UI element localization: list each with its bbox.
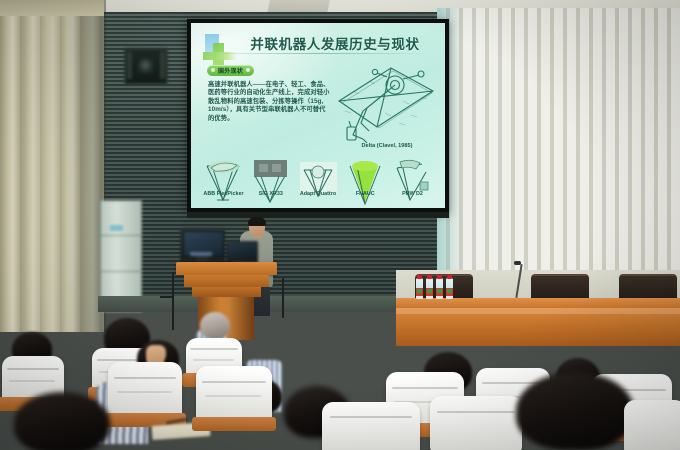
robot-label: SIG XR33 — [248, 191, 293, 200]
slide-section-badge-label: 国外现状 — [218, 66, 243, 75]
robot-image-row — [201, 156, 435, 208]
presenter-laptop — [226, 241, 258, 263]
delta-robot-diagram — [333, 61, 441, 147]
table-microphone-head — [514, 261, 521, 265]
cable — [160, 296, 174, 298]
right-wall — [437, 8, 680, 298]
seat — [108, 362, 182, 418]
robot-label: Adapt Quattro — [296, 191, 341, 200]
water-bottle — [426, 278, 433, 299]
podium-mid — [192, 287, 261, 297]
slide-title: 并联机器人发展历史与现状 — [235, 33, 435, 53]
projection-screen: 并联机器人发展历史与现状 国外现状 高速并联机器人——在电子、轻工、食品、医药等… — [187, 19, 449, 212]
delta-diagram-caption: Delta (Clavel, 1985) — [333, 143, 441, 149]
head-table-front — [396, 308, 680, 346]
screen-bottom-bar — [187, 212, 449, 218]
robot-thumbnail — [248, 156, 293, 208]
slide-body-text: 高速并联机器人——在电子、轻工、食品、医药等行业的自动化生产线上，完成对轻小散乱… — [208, 81, 330, 123]
head-table-chair — [531, 274, 589, 300]
robot-label: ABB FlexPicker — [201, 191, 246, 200]
robot-thumbnail — [201, 156, 246, 208]
desktop-monitor — [180, 228, 225, 264]
head-table-top — [396, 298, 680, 308]
presentation-slide: 并联机器人发展历史与现状 国外现状 高速并联机器人——在电子、轻工、食品、医药等… — [191, 23, 445, 208]
water-bottle — [436, 278, 443, 299]
attendee-head-foreground — [516, 372, 634, 450]
robot-label: FNAUC — [343, 191, 388, 200]
presenter-hair — [248, 217, 266, 226]
vertical-blinds — [437, 8, 680, 298]
attendee-head — [200, 312, 230, 339]
seat — [322, 402, 420, 450]
attendee-hand — [146, 345, 166, 362]
podium-body — [184, 275, 269, 287]
water-bottle — [416, 278, 423, 299]
robot-thumbnail — [343, 156, 388, 208]
left-curtain — [0, 0, 104, 332]
seat — [430, 396, 522, 450]
head-table-chair — [619, 274, 677, 300]
attendee-head-foreground — [14, 392, 110, 450]
head-table-chair — [415, 274, 473, 300]
slide-title-rule — [205, 53, 430, 54]
robot-label: PRW D2 — [390, 191, 435, 200]
cable — [282, 278, 284, 318]
seat — [196, 366, 272, 422]
water-bottle — [446, 278, 453, 299]
lecture-hall-photo: 并联机器人发展历史与现状 国外现状 高速并联机器人——在电子、轻工、食品、医药等… — [0, 0, 680, 450]
robot-label-row: ABB FlexPicker SIG XR33 Adapt Quattro FN… — [201, 191, 435, 200]
cable — [172, 272, 174, 330]
wall-speaker-icon — [124, 48, 168, 85]
robot-thumbnail — [390, 156, 435, 208]
delta-diagram-svg — [333, 61, 441, 147]
podium-top — [176, 262, 277, 275]
slide-section-badge: 国外现状 — [207, 65, 254, 76]
seat — [624, 400, 680, 450]
robot-thumbnail — [296, 156, 341, 208]
